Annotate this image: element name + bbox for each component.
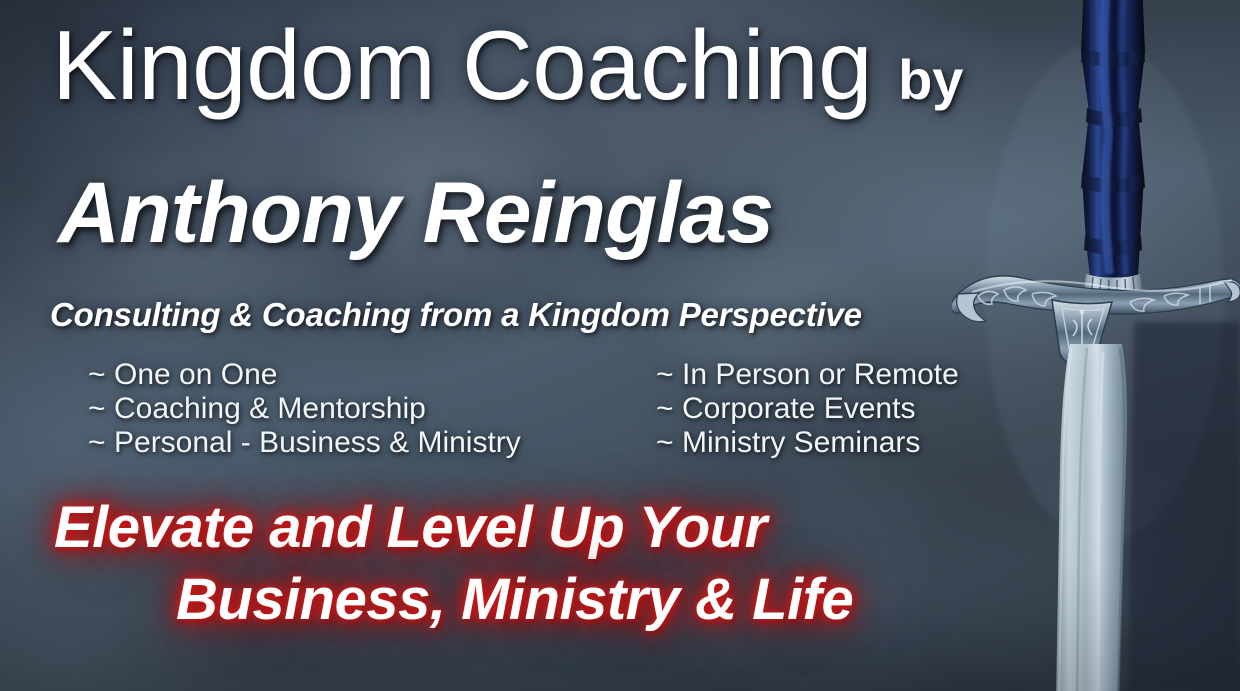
- tilde-bullet-icon: ~: [88, 392, 114, 426]
- services-left-column: ~ One on One ~ Coaching & Mentorship ~ P…: [88, 358, 521, 460]
- banner-content: Kingdom Coaching by Anthony Reinglas Con…: [0, 0, 1240, 691]
- headline-line-2: Business, Ministry & Life: [0, 564, 960, 636]
- tagline: Consulting & Coaching from a Kingdom Per…: [50, 298, 862, 331]
- list-item-label: Corporate Events: [682, 392, 915, 426]
- tilde-bullet-icon: ~: [88, 426, 114, 460]
- presenter-name: Anthony Reinglas: [58, 170, 773, 256]
- tilde-bullet-icon: ~: [656, 358, 682, 392]
- list-item-label: Coaching & Mentorship: [114, 392, 426, 426]
- list-item: ~ Personal - Business & Ministry: [88, 426, 521, 460]
- list-item-label: Ministry Seminars: [682, 426, 920, 460]
- list-item: ~ One on One: [88, 358, 521, 392]
- title-by-text: by: [898, 52, 963, 108]
- list-item: ~ Ministry Seminars: [656, 426, 959, 460]
- services-right-column: ~ In Person or Remote ~ Corporate Events…: [656, 358, 959, 460]
- list-item: ~ Corporate Events: [656, 392, 959, 426]
- list-item-label: Personal - Business & Ministry: [114, 426, 521, 460]
- tilde-bullet-icon: ~: [88, 358, 114, 392]
- headline-line-1: Elevate and Level Up Your: [0, 492, 960, 564]
- services-lists: ~ One on One ~ Coaching & Mentorship ~ P…: [0, 358, 1240, 470]
- call-to-action-headline: Elevate and Level Up Your Business, Mini…: [0, 492, 960, 636]
- list-item-label: One on One: [114, 358, 277, 392]
- list-item: ~ Coaching & Mentorship: [88, 392, 521, 426]
- banner-title: Kingdom Coaching by: [52, 16, 963, 114]
- list-item-label: In Person or Remote: [682, 358, 959, 392]
- tilde-bullet-icon: ~: [656, 392, 682, 426]
- kingdom-coaching-banner: Kingdom Coaching by Anthony Reinglas Con…: [0, 0, 1240, 691]
- list-item: ~ In Person or Remote: [656, 358, 959, 392]
- title-main-text: Kingdom Coaching: [52, 16, 872, 114]
- tilde-bullet-icon: ~: [656, 426, 682, 460]
